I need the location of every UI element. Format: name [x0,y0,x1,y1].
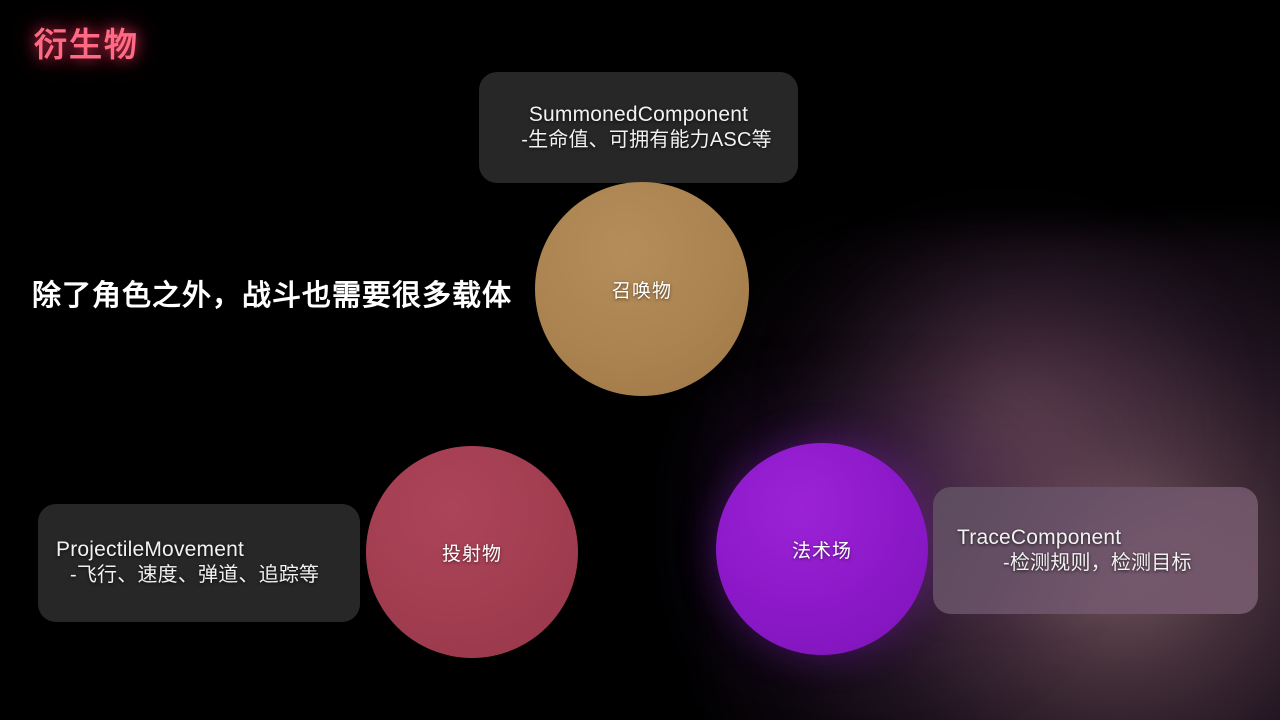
card-trace-component-subtitle: -检测规则，检测目标 [951,551,1240,575]
card-trace-component-title: TraceComponent [951,526,1240,551]
card-projectile-movement-subtitle: -飞行、速度、弹道、追踪等 [56,563,342,587]
slide-canvas: 衍生物 除了角色之外，战斗也需要很多载体 SummonedComponent -… [0,0,1280,720]
headline-text: 除了角色之外，战斗也需要很多载体 [32,272,512,314]
card-projectile-movement-title: ProjectileMovement [56,538,342,563]
node-circle-summon: 召唤物 [535,182,749,396]
node-circle-spellfield: 法术场 [716,443,928,655]
card-projectile-movement: ProjectileMovement -飞行、速度、弹道、追踪等 [38,504,360,622]
card-summoned-component-subtitle: -生命值、可拥有能力ASC等 [505,128,772,152]
node-circle-projectile-label: 投射物 [442,539,502,566]
node-circle-spellfield-label: 法术场 [792,536,852,563]
node-circle-summon-label: 召唤物 [612,276,672,303]
node-circle-projectile: 投射物 [366,446,578,658]
card-summoned-component-title: SummonedComponent [529,103,748,128]
card-trace-component: TraceComponent -检测规则，检测目标 [933,487,1258,614]
card-summoned-component: SummonedComponent -生命值、可拥有能力ASC等 [479,72,798,183]
slide-title: 衍生物 [34,18,139,66]
